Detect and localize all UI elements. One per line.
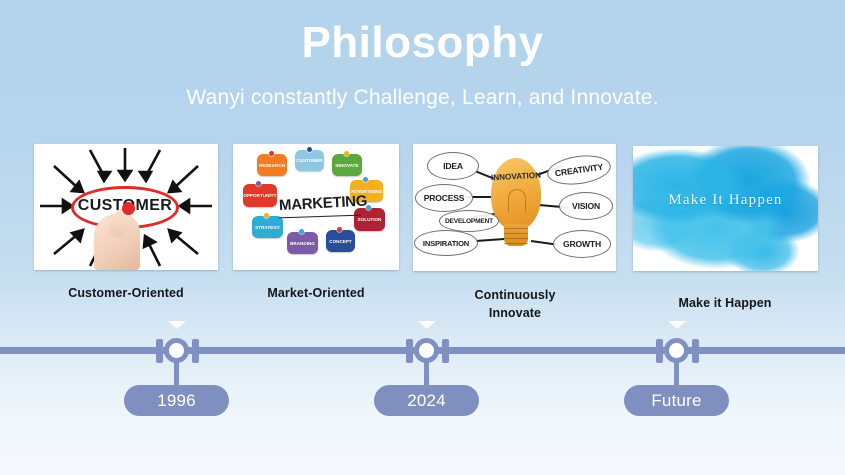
customer-arrows-photo: CUSTOMER	[34, 144, 218, 270]
card-caption-market-oriented: Market-Oriented	[221, 284, 411, 302]
timeline-stop-right	[692, 339, 699, 363]
pin-icon	[344, 151, 349, 156]
card-caption-continuously-innovate: Continuously Innovate	[405, 286, 625, 322]
bubble-label: STRATEGY	[255, 225, 280, 230]
timeline-stop-right	[442, 339, 449, 363]
pin-icon	[299, 229, 304, 234]
bubble-label: BRANDING	[290, 241, 315, 246]
node-growth: GROWTH	[553, 230, 611, 258]
bubble-label: CUSTOMER	[296, 158, 322, 163]
bubble-solution: SOLUTION	[354, 208, 385, 231]
bubble-opportunity: OPPORTUNITY	[243, 184, 277, 207]
marketing-underline	[279, 215, 361, 219]
node-inspiration: INSPIRATION	[414, 230, 478, 256]
bulb-base	[504, 224, 528, 246]
bubble-strategy: STRATEGY	[252, 216, 283, 238]
timeline-stop-left	[406, 339, 413, 363]
timeline-ring-icon	[164, 338, 189, 363]
caption-line-2: Innovate	[405, 304, 625, 322]
bubble-label: OPPORTUNITY	[243, 193, 276, 198]
timeline-stop-left	[156, 339, 163, 363]
bubble-innovate: INNOVATE	[332, 154, 362, 176]
pin-icon	[307, 147, 312, 152]
bubble-label: RESEARCH	[259, 163, 285, 168]
timeline-ring-icon	[664, 338, 689, 363]
bubble-label: INNOVATE	[335, 163, 358, 168]
marketing-speech-bubbles-photo: RESEARCH CUSTOMER INNOVATE ADVERTISING O…	[233, 144, 399, 270]
node-vision: VISION	[559, 192, 613, 220]
pin-icon	[264, 213, 269, 218]
make-it-happen-word: Make It Happen	[633, 192, 818, 209]
bubble-customer: CUSTOMER	[295, 150, 324, 171]
marker-nib	[122, 202, 135, 215]
timeline-ring-icon	[414, 338, 439, 363]
pin-icon	[337, 227, 342, 232]
node-creativity: CREATIVITY	[545, 152, 612, 189]
node-process: PROCESS	[415, 184, 473, 212]
bubble-label: SOLUTION	[358, 217, 382, 222]
page-title: Philosophy	[0, 18, 845, 69]
timeline-stop-left	[656, 339, 663, 363]
connector-line	[476, 238, 506, 242]
page-subtitle: Wanyi constantly Challenge, Learn, and I…	[0, 86, 845, 110]
node-development: DEVELOPMENT	[439, 210, 499, 232]
timeline-pill-2024[interactable]: 2024	[374, 385, 479, 416]
innovation-lightbulb-mindmap-photo: INNOVATION IDEA CREATIVITY PROCESS VISIO…	[413, 144, 616, 271]
pin-icon	[363, 177, 368, 182]
bubble-research: RESEARCH	[257, 154, 287, 176]
pin-icon	[269, 151, 274, 156]
make-it-happen-watercolor-photo: Make It Happen	[633, 146, 818, 271]
filament-shape	[508, 189, 526, 212]
bubble-branding: BRANDING	[287, 232, 318, 254]
card-caption-make-it-happen: Make it Happen	[627, 294, 823, 312]
pin-icon	[256, 181, 261, 186]
node-idea: IDEA	[427, 152, 479, 180]
card-caption-customer-oriented: Customer-Oriented	[22, 284, 230, 302]
caption-line-1: Continuously	[405, 286, 625, 304]
bubble-label: CONCEPT	[329, 239, 351, 244]
slide-canvas: Philosophy Wanyi constantly Challenge, L…	[0, 0, 845, 475]
timeline-pill-1996[interactable]: 1996	[124, 385, 229, 416]
timeline-pill-future[interactable]: Future	[624, 385, 729, 416]
bubble-concept: CONCEPT	[326, 230, 355, 252]
timeline-stop-right	[192, 339, 199, 363]
marketing-word: MARKETING	[279, 193, 362, 214]
